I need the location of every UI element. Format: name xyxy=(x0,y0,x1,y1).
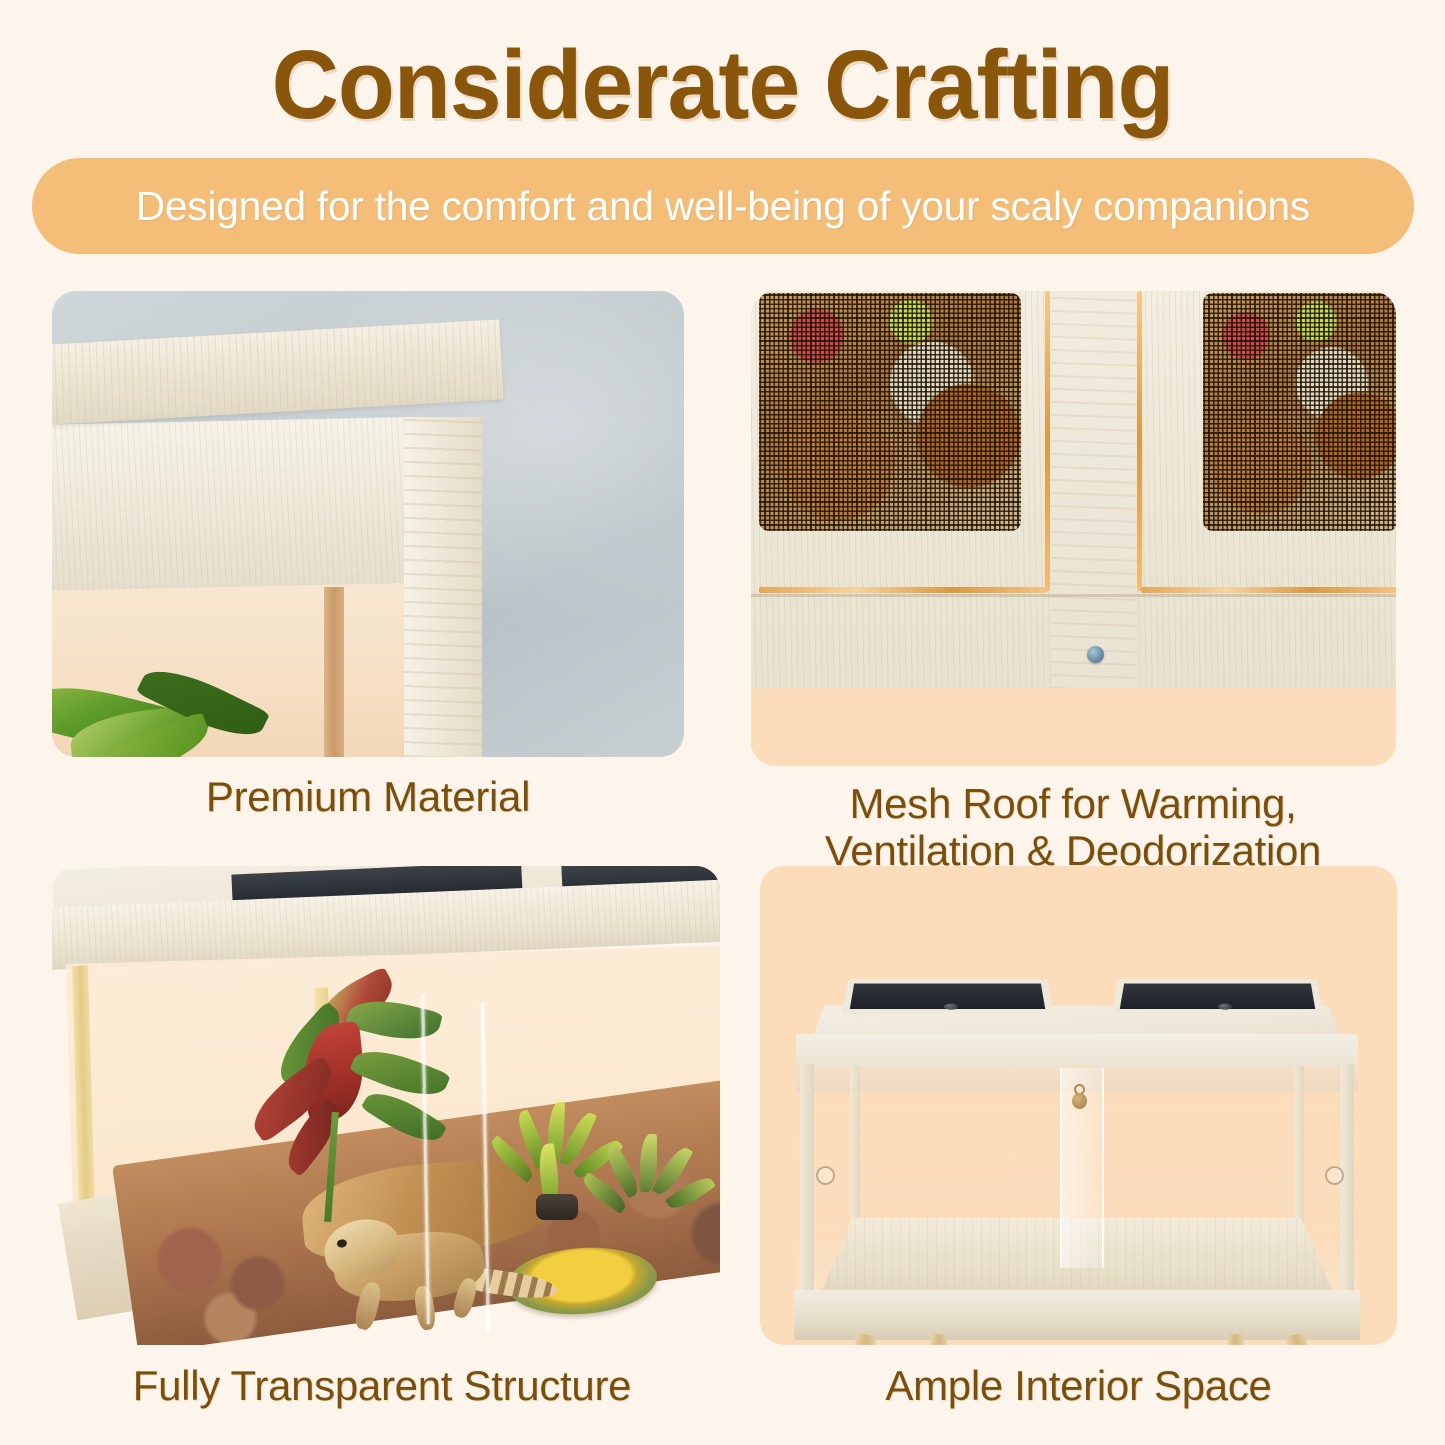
succulent-plant xyxy=(592,1134,712,1254)
wood-seam xyxy=(751,594,1396,597)
gold-trim-line xyxy=(1137,291,1142,591)
red-foliage-plant xyxy=(252,984,442,1214)
enclosure-base-rail xyxy=(794,1290,1360,1340)
bearded-dragon xyxy=(324,1216,554,1336)
gold-trim-line xyxy=(1141,587,1396,593)
door-handle-right xyxy=(1325,1166,1344,1185)
screw-icon xyxy=(1087,646,1104,663)
corner-wood-post xyxy=(800,1064,814,1294)
caption-mesh-roof: Mesh Roof for Warming, Ventilation & Deo… xyxy=(742,780,1404,875)
caption-transparent-structure: Fully Transparent Structure xyxy=(42,1362,722,1409)
mesh-panel-right xyxy=(1203,293,1396,531)
caption-interior-space: Ample Interior Space xyxy=(760,1362,1397,1409)
lid-mesh-panel-right xyxy=(1112,979,1324,1014)
mesh-roof-photo xyxy=(751,291,1396,766)
gold-trim-line xyxy=(759,587,1047,593)
feature-card-mesh-roof xyxy=(751,291,1396,766)
caption-line-1: Mesh Roof for Warming, xyxy=(742,780,1404,827)
subtitle-banner: Designed for the comfort and well-being … xyxy=(32,158,1414,254)
front-wood-panel xyxy=(52,417,414,591)
subtitle-text: Designed for the comfort and well-being … xyxy=(136,183,1310,230)
interior-wood-post xyxy=(324,587,344,757)
mesh-panel-left xyxy=(759,293,1021,531)
gold-trim-line xyxy=(1045,291,1050,591)
feature-card-interior-space xyxy=(760,866,1397,1345)
lid-mesh-panel-left xyxy=(842,979,1054,1014)
lock-icon xyxy=(1072,1084,1088,1110)
center-wood-divider xyxy=(1051,291,1137,702)
transparent-structure-photo xyxy=(52,866,720,1345)
door-handle-left xyxy=(816,1166,835,1185)
lid-knob xyxy=(944,1003,958,1009)
page-title: Considerate Crafting xyxy=(29,34,1416,136)
feature-card-premium-material xyxy=(52,291,684,757)
dragon-eye xyxy=(336,1239,347,1249)
vertical-wood-stile xyxy=(404,417,482,757)
lid-knob xyxy=(1218,1003,1232,1009)
feature-card-transparent-structure xyxy=(52,866,720,1345)
interior-space-photo xyxy=(760,866,1397,1345)
peach-accent-band xyxy=(751,688,1396,766)
plant-leaf xyxy=(349,1039,451,1106)
caption-premium-material: Premium Material xyxy=(52,773,684,820)
premium-material-photo xyxy=(52,291,684,757)
